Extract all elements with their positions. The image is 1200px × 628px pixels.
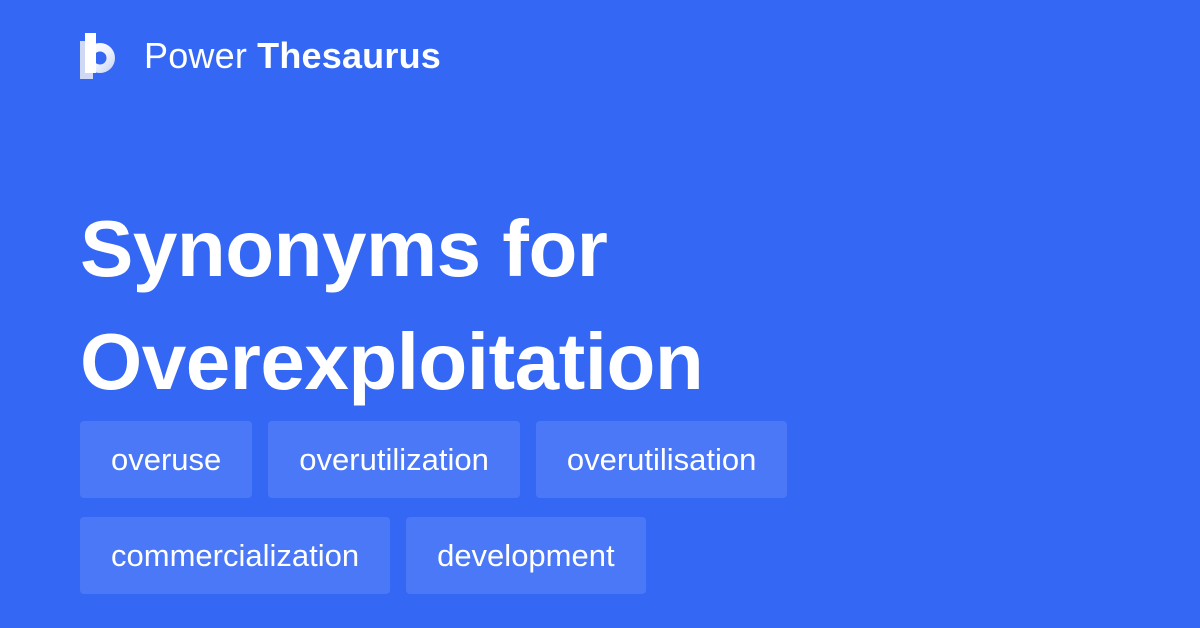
synonym-chip[interactable]: overutilisation [536,421,788,498]
synonym-chip[interactable]: development [406,517,646,594]
synonym-chip-list: overuse overutilization overutilisation … [80,421,1140,594]
synonym-chip[interactable]: commercialization [80,517,390,594]
brand-word-thesaurus: Thesaurus [257,35,441,77]
page-title-line-2: Overexploitation [80,305,1120,418]
social-card: Power Thesaurus Synonyms for Overexploit… [0,0,1200,628]
brand-wordmark: Power Thesaurus [144,35,441,77]
page-title-line-1: Synonyms for [80,192,1120,305]
brand-word-power: Power [144,35,247,77]
synonym-chip[interactable]: overutilization [268,421,520,498]
synonym-chip-row: overuse overutilization overutilisation [80,421,1140,498]
synonym-chip-row: commercialization development [80,517,1140,594]
brand-logo[interactable]: Power Thesaurus [80,28,441,84]
power-thesaurus-b-logo-icon [80,33,122,79]
page-title: Synonyms for Overexploitation [80,192,1120,418]
synonym-chip[interactable]: overuse [80,421,252,498]
